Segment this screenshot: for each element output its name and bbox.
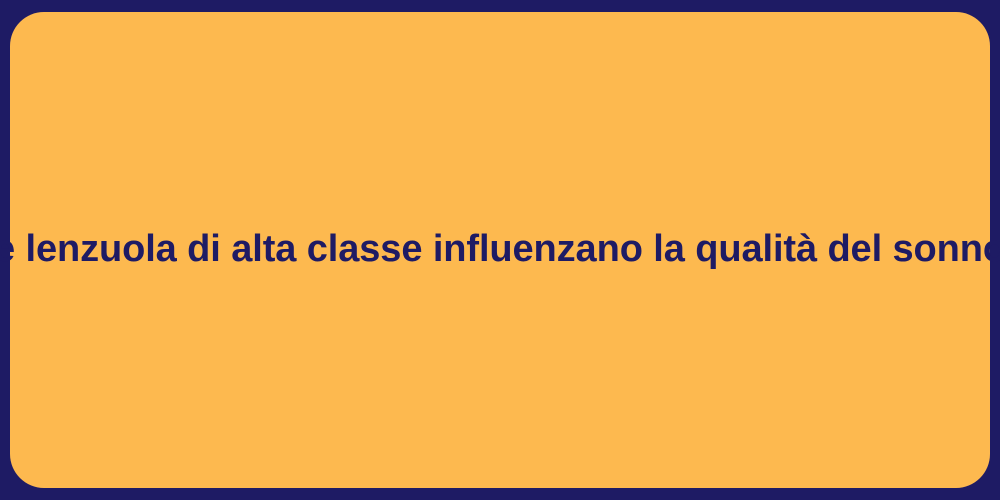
page-title: Le lenzuola di alta classe influenzano l… bbox=[0, 226, 1000, 274]
content-card: Le lenzuola di alta classe influenzano l… bbox=[10, 12, 990, 488]
outer-frame: Le lenzuola di alta classe influenzano l… bbox=[0, 0, 1000, 500]
